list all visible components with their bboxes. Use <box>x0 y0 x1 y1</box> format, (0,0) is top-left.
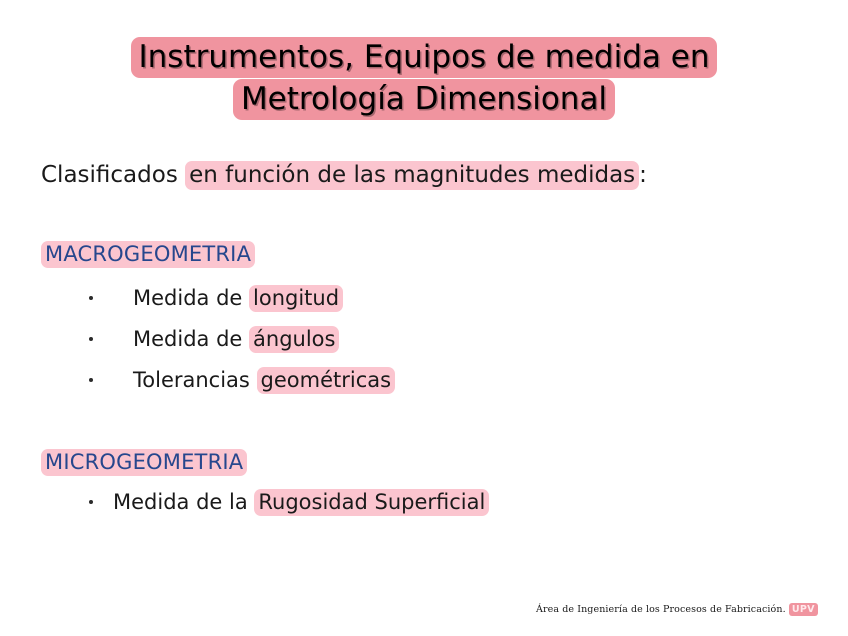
list-item: Medida de longitud <box>89 284 343 312</box>
list-item: Medida de ángulos <box>89 325 339 353</box>
bullet-dot-icon <box>89 337 93 341</box>
bullet-dot-icon <box>89 500 93 504</box>
list-item-content: Medida de la Rugosidad Superficial <box>113 488 489 516</box>
intro-highlighted-text: en función de las magnitudes medidas <box>185 161 639 190</box>
list-item: Medida de la Rugosidad Superficial <box>89 488 489 516</box>
intro-line: Clasificados en función de las magnitude… <box>41 160 647 190</box>
intro-plain-suffix: : <box>639 162 647 188</box>
list-item-plain: Tolerancias <box>133 368 257 392</box>
list-item-highlighted: Rugosidad Superficial <box>254 489 489 516</box>
list-item-content: Medida de longitud <box>133 284 343 312</box>
list-item-content: Tolerancias geométricas <box>133 366 395 394</box>
bullet-dot-icon <box>89 296 93 300</box>
bullet-dot-icon <box>89 378 93 382</box>
list-item-plain: Medida de <box>133 286 249 310</box>
intro-plain-prefix: Clasificados <box>41 162 185 188</box>
footer-text: Área de Ingeniería de los Procesos de Fa… <box>536 604 786 615</box>
title-line-1-text: Instrumentos, Equipos de medida en <box>131 37 718 78</box>
slide-footer: Área de Ingeniería de los Procesos de Fa… <box>536 603 818 617</box>
list-item: Tolerancias geométricas <box>89 366 395 394</box>
section-heading-macrogeometria: MACROGEOMETRIA <box>41 240 255 268</box>
list-item-plain: Medida de la <box>113 490 254 514</box>
list-item-content: Medida de ángulos <box>133 325 339 353</box>
page-title: Instrumentos, Equipos de medida en Metro… <box>0 36 848 120</box>
section-heading-microgeometria: MICROGEOMETRIA <box>41 448 247 476</box>
list-item-highlighted: geométricas <box>257 367 396 394</box>
list-item-highlighted: longitud <box>249 285 343 312</box>
slide-canvas: Instrumentos, Equipos de medida en Metro… <box>0 0 848 636</box>
title-line-2: Metrología Dimensional <box>0 78 848 120</box>
section-heading-macrogeometria-text: MACROGEOMETRIA <box>41 241 255 268</box>
list-item-highlighted: ángulos <box>249 326 339 353</box>
list-item-plain: Medida de <box>133 327 249 351</box>
section-heading-microgeometria-text: MICROGEOMETRIA <box>41 449 247 476</box>
upv-badge: UPV <box>789 603 818 616</box>
title-line-2-text: Metrología Dimensional <box>233 79 615 120</box>
title-line-1: Instrumentos, Equipos de medida en <box>0 36 848 78</box>
